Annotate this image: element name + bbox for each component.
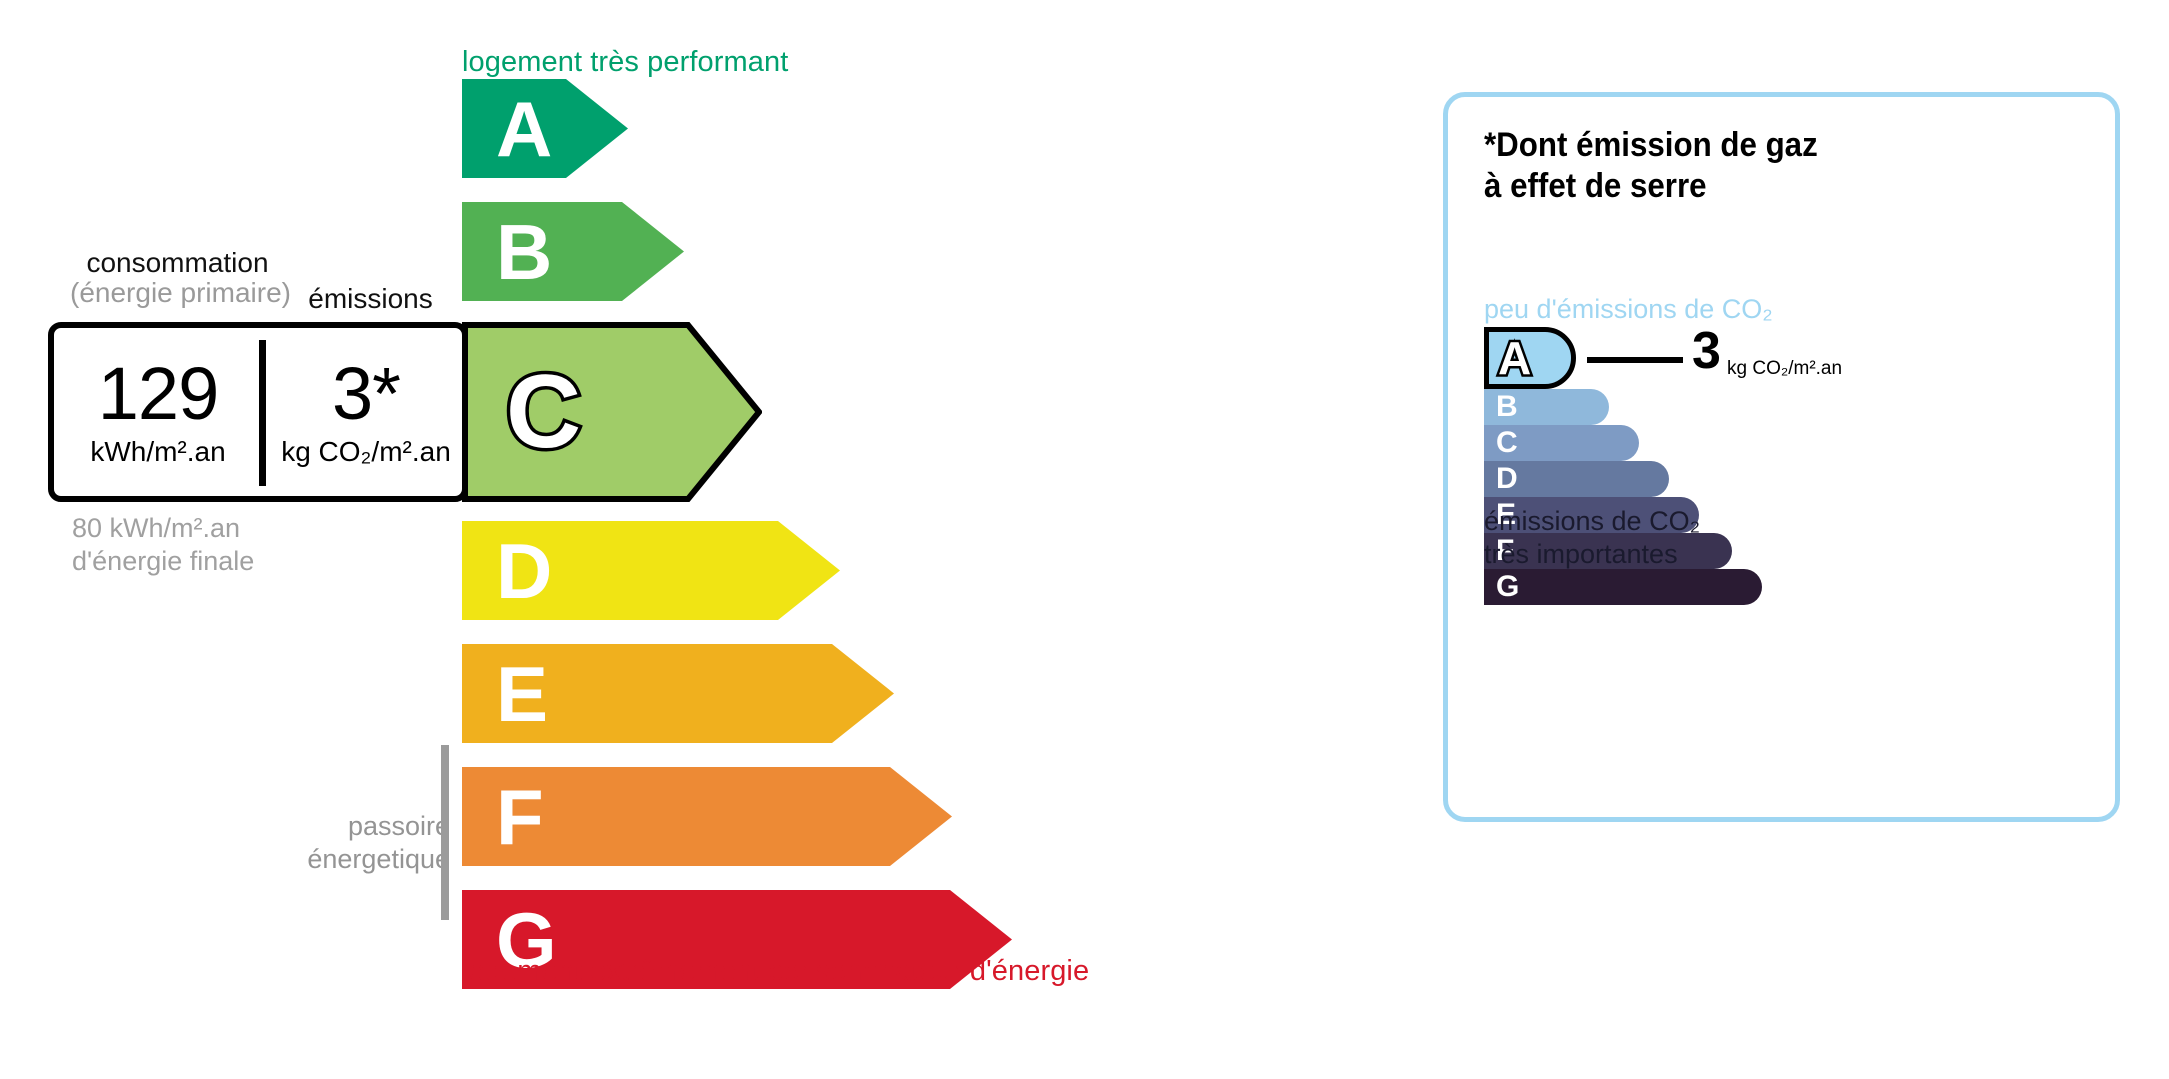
co2-title-line-2: à effet de serre [1484,166,1818,207]
co2-class-letter-g: G [1496,572,1519,602]
consumption-unit: kWh/m².an [90,438,225,466]
scale-top-caption: logement très performant [462,46,788,79]
energy-class-row-b: B [462,202,684,301]
co2-panel-title: *Dont émission de gaz à effet de serre [1484,125,1818,207]
co2-bottom-line-1: émissions de CO₂ [1484,505,1700,538]
emissions-unit: kg CO₂/m².an [281,438,451,466]
energy-class-letter-a: A [496,90,552,168]
energy-class-letter-e: E [496,655,548,733]
consumption-header-label: consommation [86,247,268,278]
energy-class-letter-f: F [496,778,544,856]
co2-bar-g [1484,569,1762,605]
energy-class-row-c: C [462,322,762,502]
value-box: 129 kWh/m².an 3* kg CO₂/m².an [48,322,468,502]
scale-bottom-caption: logement extrêmement consommateur d'éner… [462,955,1089,988]
co2-class-letter-d: D [1496,464,1518,494]
energy-consumption-scale: logement très performant consommation (é… [0,0,1400,1079]
passoire-line-2: énergetique [250,843,450,876]
final-energy-value: 80 kWh/m².an [72,512,254,545]
final-energy-note: 80 kWh/m².an d'énergie finale [72,512,254,579]
co2-bottom-caption: émissions de CO₂ très importantes [1484,505,1700,571]
co2-title-line-1: *Dont émission de gaz [1484,125,1818,166]
energy-class-letter-b: B [496,213,552,291]
co2-value-unit: kg CO₂/m².an [1727,358,1842,380]
co2-class-row-d: D [1484,461,2104,497]
co2-class-letter-a: A [1498,335,1531,381]
value-box-divider [259,340,266,486]
co2-class-row-a: A3kg CO₂/m².an [1484,327,2104,389]
co2-class-letter-c: C [1496,428,1518,458]
dpe-diagram: logement très performant consommation (é… [0,0,2169,1079]
energy-class-row-e: E [462,644,894,743]
passoire-energetique-label: passoire énergetique [250,810,450,877]
energy-class-row-a: A [462,79,628,178]
co2-bottom-line-2: très importantes [1484,538,1700,571]
passoire-bracket [441,745,449,920]
emissions-value: 3* [332,358,400,429]
consumption-value: 129 [98,358,218,429]
co2-class-row-c: C [1484,425,2104,461]
co2-class-row-b: B [1484,389,2104,425]
energy-class-row-f: F [462,767,952,866]
consumption-header-sublabel: (énergie primaire) [70,278,285,308]
passoire-line-1: passoire [250,810,450,843]
emissions-value-cell: 3* kg CO₂/m².an [266,328,466,496]
energy-class-letter-d: D [496,532,552,610]
final-energy-label: d'énergie finale [72,545,254,578]
emissions-header-label: émissions [288,283,453,315]
co2-value: 3 [1692,325,1721,377]
co2-class-letter-b: B [1496,392,1518,422]
consumption-header: consommation (énergie primaire) [70,248,285,308]
energy-class-row-d: D [462,521,840,620]
co2-class-row-g: G [1484,569,2104,605]
energy-class-letter-c: C [506,360,581,464]
co2-top-caption: peu d'émissions de CO₂ [1484,294,1773,325]
co2-leader-line [1587,357,1683,363]
co2-emissions-panel: *Dont émission de gaz à effet de serre p… [1443,92,2120,822]
consumption-value-cell: 129 kWh/m².an [54,328,262,496]
